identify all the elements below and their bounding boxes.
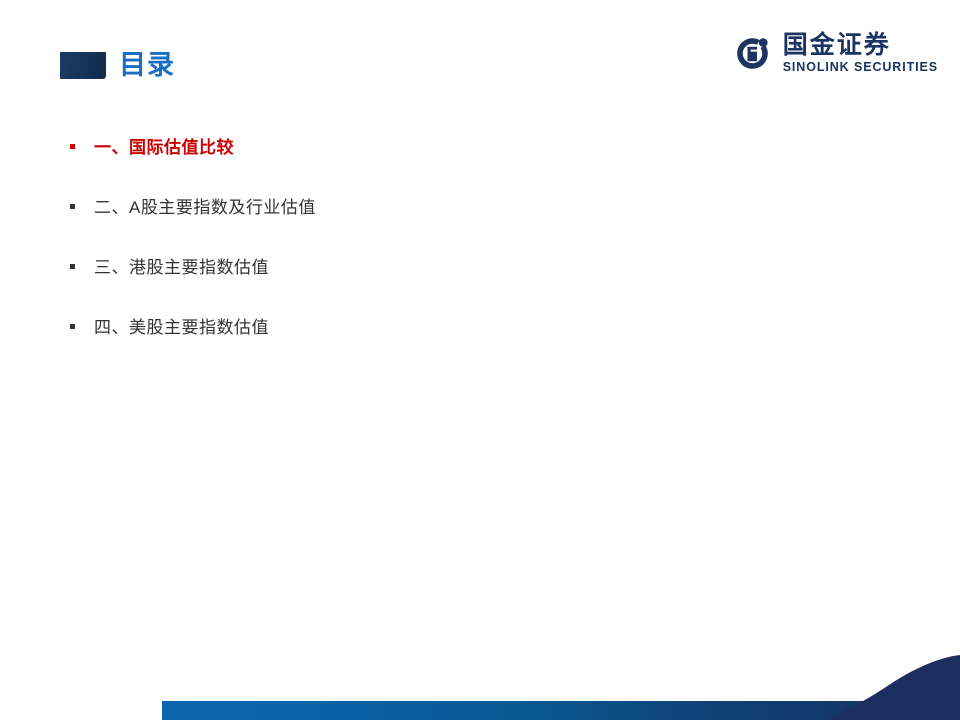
agenda-list: 一、国际估值比较 二、A股主要指数及行业估值 三、港股主要指数估值 四、美股主要…: [70, 138, 770, 378]
agenda-item-label: 三、港股主要指数估值: [94, 258, 269, 278]
agenda-item-3[interactable]: 三、港股主要指数估值: [70, 258, 770, 318]
agenda-item-label: 一、国际估值比较: [94, 138, 234, 158]
agenda-slide: 目录 国金证券 SINOLINK SECURITIES 一、国际估值比较 二、A…: [0, 0, 960, 720]
bullet-icon: [70, 324, 75, 329]
bullet-icon: [70, 264, 75, 269]
agenda-item-1[interactable]: 一、国际估值比较: [70, 138, 770, 198]
slide-header: 目录: [60, 52, 175, 79]
agenda-item-label: 二、A股主要指数及行业估值: [94, 198, 316, 218]
bullet-icon: [70, 144, 75, 149]
header-marker-block: [60, 52, 106, 79]
footer-curve-shape: [830, 655, 960, 720]
sinolink-circle-logo-icon: [732, 33, 774, 75]
logo-text-block: 国金证券 SINOLINK SECURITIES: [783, 32, 938, 75]
agenda-item-label: 四、美股主要指数估值: [94, 318, 269, 338]
logo-company-name-en: SINOLINK SECURITIES: [783, 60, 938, 75]
bullet-icon: [70, 204, 75, 209]
agenda-item-4[interactable]: 四、美股主要指数估值: [70, 318, 770, 378]
agenda-item-2[interactable]: 二、A股主要指数及行业估值: [70, 198, 770, 258]
company-logo: 国金证券 SINOLINK SECURITIES: [732, 32, 938, 75]
logo-company-name-cn: 国金证券: [783, 32, 938, 58]
page-title: 目录: [119, 52, 175, 79]
